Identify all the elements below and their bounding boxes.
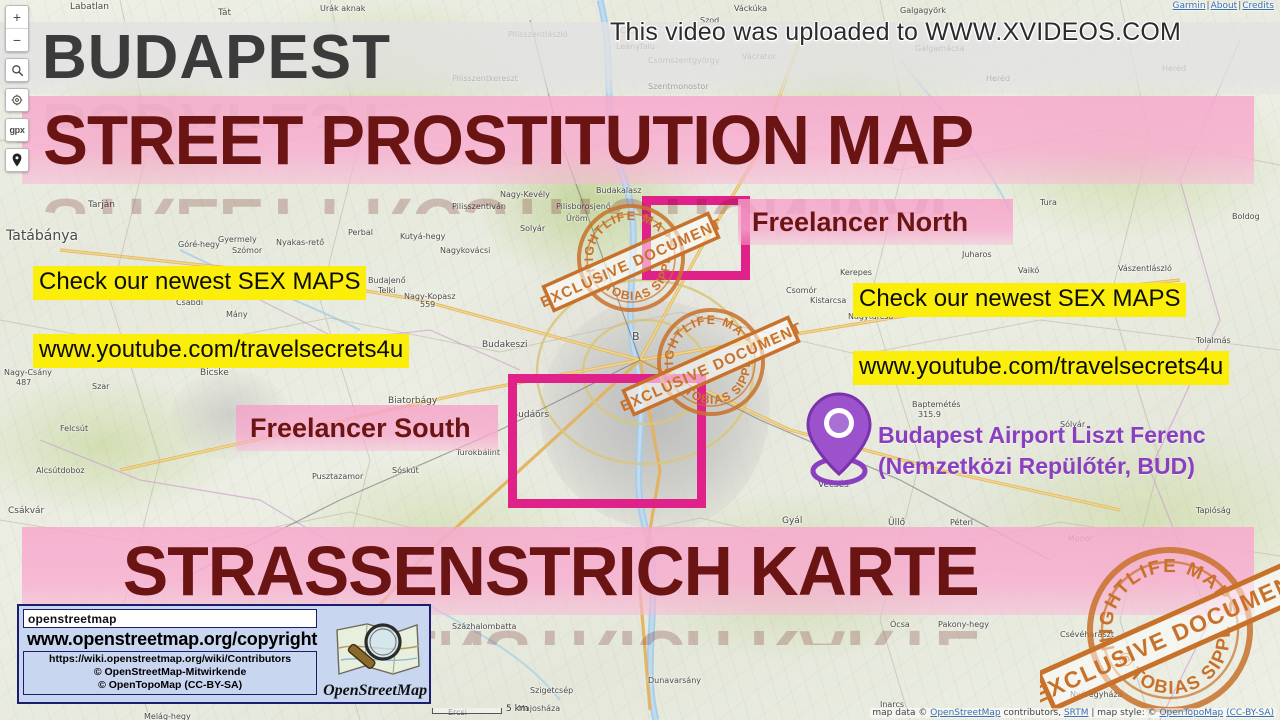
map-label: Nyakas-rető (276, 238, 324, 247)
zone-rect-freelancer-north (642, 196, 750, 280)
map-label: Üröm (566, 214, 588, 223)
map-control-rail[interactable]: + − gpx (5, 5, 29, 172)
scale-bar-label: 5 km (506, 705, 529, 714)
map-label: Pilisborosjenő (556, 202, 611, 211)
map-screenshot: LabatlanTátUrák aknakVáckúkaSzodGalgagyö… (0, 0, 1280, 720)
zone-label-text-north: Freelancer North (738, 207, 982, 238)
map-label: Boldog (1232, 212, 1260, 221)
map-label: Csákvár (8, 506, 44, 516)
map-label: Tatábánya (6, 228, 78, 244)
opentopomap-license-line: © OpenTopoMap (CC-BY-SA) (26, 679, 314, 692)
search-icon[interactable] (6, 59, 28, 81)
map-label: Tát (218, 8, 231, 18)
zone-label-text-south: Freelancer South (236, 413, 485, 444)
osm-brand-text: OpenStreetMap (323, 682, 427, 700)
map-label: Solyár (520, 224, 545, 233)
map-label: Tolalmás (1196, 336, 1231, 345)
attrib-style-prefix: | map style: © (1089, 708, 1160, 718)
map-label: Baptemétés (912, 400, 960, 409)
airport-map-pin-icon (795, 388, 883, 486)
map-label: Pakony-hegy (938, 620, 989, 629)
gpx-button[interactable]: gpx (6, 119, 28, 141)
airport-label-line1: Budapest Airport Liszt Ferenc (878, 420, 1206, 451)
zoom-in-button[interactable]: + (6, 6, 28, 28)
map-label: Budakeszi (482, 340, 527, 350)
map-label: Perbal (348, 228, 373, 237)
map-label: Gyermely (218, 235, 257, 244)
promo-check-left: Check our newest SEX MAPS (33, 266, 366, 300)
bottom-map-attribution: map data © OpenStreetMap contributors, S… (870, 708, 1276, 718)
garmin-link[interactable]: Garmin (1173, 1, 1206, 11)
zone-rect-freelancer-south (508, 374, 706, 508)
map-label: Tapióság (1196, 506, 1231, 515)
osm-attribution-text-column: openstreetmap www.openstreetmap.org/copy… (19, 606, 321, 702)
osm-link[interactable]: OpenStreetMap (930, 708, 1000, 718)
osm-logo-row: openstreetmap (23, 609, 317, 628)
main-title-banner-de: STRASSENSTRICH KARTE STRASSENSTRICH KART… (22, 527, 1254, 615)
map-label: Pusztazamor (312, 472, 363, 481)
map-label: Nyáregyháza (1070, 690, 1123, 699)
map-label: Szigetcsép (530, 686, 573, 695)
map-label: Kerepes (840, 268, 872, 277)
map-label: Juharos (962, 250, 992, 259)
map-label: Urák aknak (320, 4, 365, 13)
license-link[interactable]: (CC-BY-SA) (1226, 708, 1274, 718)
zone-label-freelancer-north: Freelancer North (738, 199, 1013, 245)
attrib-prefix: map data © (872, 708, 930, 718)
osm-contributors-url[interactable]: https://wiki.openstreetmap.org/wiki/Cont… (26, 653, 314, 666)
zoom-out-button[interactable]: − (6, 28, 28, 51)
osm-logo-word: openstreetmap (24, 612, 117, 626)
osm-license-block: https://wiki.openstreetmap.org/wiki/Cont… (23, 651, 317, 695)
credits-link[interactable]: Credits (1242, 1, 1274, 11)
main-title-text-en: STREET PROSTITUTION MAP (22, 101, 973, 179)
map-label: Százhalombatta (452, 622, 516, 631)
city-title-text: BUDAPEST (0, 28, 391, 88)
settings-control-group[interactable] (5, 88, 29, 112)
top-attribution-links[interactable]: Garmin|About|Credits (1173, 1, 1274, 11)
map-label: Ócsa (890, 620, 910, 629)
map-label: Nagy-Csány (4, 368, 52, 377)
map-label: Csévéharaszt (1060, 630, 1114, 639)
map-label: Melág-hegy (144, 712, 191, 720)
airport-label-line2: (Nemzetközi Repülőtér, BUD) (878, 451, 1206, 482)
map-label: Góré-hegy (178, 240, 220, 249)
about-link[interactable]: About (1211, 1, 1238, 11)
map-label: Dunavarsány (648, 676, 701, 685)
map-label: B (632, 330, 640, 343)
map-label: Csomór (786, 286, 817, 295)
map-label: Vászentlászló (1118, 264, 1172, 273)
map-label: Kistarcsa (810, 296, 846, 305)
map-label: Tarján (88, 200, 115, 210)
map-label: Nagykovácsi (440, 246, 490, 255)
main-title-banner-en: STREET PROSTITUTION MAP STREET PROSTITUT… (22, 96, 1254, 184)
map-label: Mány (226, 310, 248, 319)
video-source-watermark: This video was uploaded to WWW.XVIDEOS.C… (610, 18, 1181, 47)
map-scale-bar: 5 km (432, 705, 529, 714)
openstreetmap-attribution-box: openstreetmap www.openstreetmap.org/copy… (17, 604, 431, 704)
zone-label-freelancer-south: Freelancer South (236, 405, 498, 451)
map-label: Budajenő (368, 276, 406, 285)
osm-logo-column: OpenStreetMap (321, 606, 429, 702)
map-label: Vaikó (1018, 266, 1039, 275)
srtm-link[interactable]: SRTM (1064, 708, 1089, 718)
map-label: Budakalasz (596, 186, 641, 195)
gear-icon[interactable] (6, 89, 28, 111)
osm-contributors-line: © OpenStreetMap-Mitwirkende (26, 666, 314, 679)
map-label: Labatlan (70, 2, 109, 12)
scale-bar-line (432, 708, 502, 714)
map-label: Alcsútdoboz (36, 466, 85, 475)
search-control-group[interactable] (5, 58, 29, 82)
map-label: Gyál (782, 516, 802, 526)
main-title-text-de: STRASSENSTRICH KARTE (22, 531, 979, 611)
promo-url-left[interactable]: www.youtube.com/travelsecrets4u (33, 334, 409, 368)
map-label: Nagy-Kevély (500, 190, 550, 199)
map-label: Tura (1040, 198, 1057, 207)
gpx-control-group[interactable]: gpx (5, 118, 29, 142)
zoom-control-group[interactable]: + − (5, 5, 29, 52)
airport-label: Budapest Airport Liszt Ferenc (Nemzetköz… (878, 420, 1206, 482)
map-label: 315.9 (918, 410, 941, 419)
attrib-mid: contributors, (1001, 708, 1064, 718)
opentopomap-link[interactable]: OpenTopoMap (1159, 708, 1223, 718)
osm-copyright-url[interactable]: www.openstreetmap.org/copyright (23, 628, 317, 651)
map-label: Telki (378, 286, 396, 295)
map-label: Sóskút (392, 466, 419, 475)
map-label: Szar (92, 382, 109, 391)
map-label: Váckúka (734, 4, 767, 13)
marker-control-group[interactable] (5, 148, 29, 172)
osm-magnifier-map-icon (327, 620, 423, 682)
promo-check-right: Check our newest SEX MAPS (853, 283, 1186, 317)
map-label: Galgagyörk (900, 6, 946, 15)
map-label: Szómor (232, 246, 262, 255)
map-label: Pilisszentiván (452, 202, 506, 211)
map-label: 487 (16, 378, 31, 387)
map-label: Felcsút (60, 424, 88, 433)
map-label: 559 (420, 300, 435, 309)
map-label: Péteri (950, 518, 973, 527)
map-label: Kutyá-hegy (400, 232, 445, 241)
map-label: Bicske (200, 368, 229, 378)
promo-url-right[interactable]: www.youtube.com/travelsecrets4u (853, 351, 1229, 385)
map-pin-icon[interactable] (6, 149, 28, 171)
